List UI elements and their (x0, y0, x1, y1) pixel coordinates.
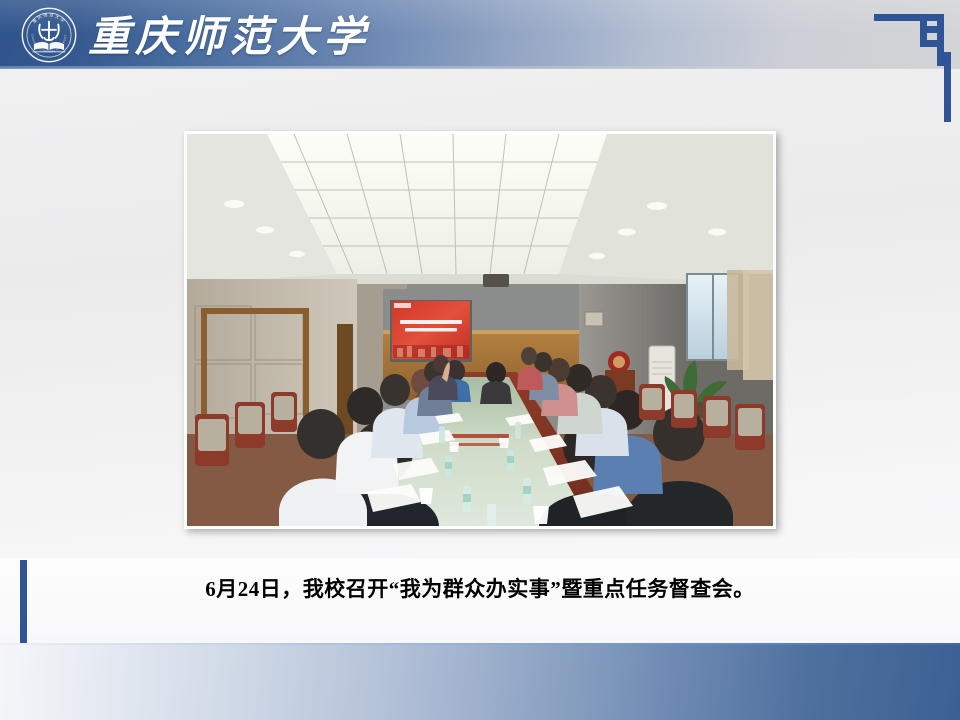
meeting-photo-frame (184, 131, 776, 529)
university-emblem-icon: 重庆师范大学 CHONGQING NORMAL UNIVERSITY (20, 6, 78, 64)
decorative-corner-top-right-icon (856, 0, 960, 122)
bottom-band (0, 645, 960, 720)
slide-caption: 6月24日，我校召开“我为群众办实事”暨重点任务督查会。 (0, 573, 960, 603)
meeting-photo (187, 134, 773, 526)
slide-canvas: 重庆师范大学 CHONGQING NORMAL UNIVERSITY (0, 0, 960, 720)
header-underline (0, 66, 960, 69)
header-bar: 重庆师范大学 CHONGQING NORMAL UNIVERSITY (0, 0, 960, 68)
university-wordmark: 重庆师范大学 (88, 2, 370, 64)
